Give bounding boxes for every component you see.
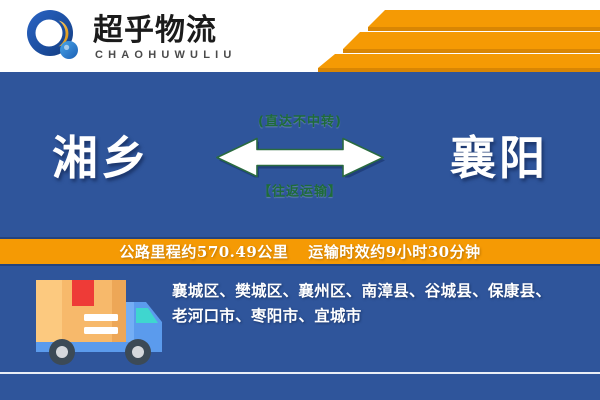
route-info-bar: 公路里程约570.49公里 运输时效约9小时30分钟 xyxy=(0,237,600,266)
footer-band xyxy=(0,374,600,400)
header-bar: 超乎物流 CHAOHUWULIU xyxy=(0,0,600,72)
brand-logo[interactable]: 超乎物流 CHAOHUWULIU xyxy=(24,8,237,66)
destination-city: 襄阳 xyxy=(450,122,548,188)
direct-route-note: (直达不中转) xyxy=(205,110,395,129)
double-headed-arrow-icon xyxy=(205,131,395,177)
round-trip-note: 【往返运输】 xyxy=(205,180,395,199)
coverage-line-1: 襄城区、樊城区、襄州区、南漳县、谷城县、保康县、 xyxy=(172,278,586,303)
coverage-section: 襄城区、樊城区、襄州区、南漳县、谷城县、保康县、 老河口市、枣阳市、宜城市 xyxy=(0,266,600,372)
circle-crescent-logo-icon xyxy=(24,8,84,66)
route-arrow-group: (直达不中转) 【往返运输】 xyxy=(205,110,395,199)
distance-label: 公路里程约570.49公里 xyxy=(119,241,288,262)
origin-city: 湘乡 xyxy=(52,122,150,188)
coverage-line-2: 老河口市、枣阳市、宜城市 xyxy=(172,303,586,328)
delivery-truck-icon xyxy=(28,274,170,366)
orange-speed-stripes-icon xyxy=(310,0,600,72)
logistics-route-banner: 超乎物流 CHAOHUWULIU 湘乡 (直达不中转) xyxy=(0,0,600,400)
brand-name-cn: 超乎物流 xyxy=(93,14,237,48)
coverage-area-list: 襄城区、樊城区、襄州区、南漳县、谷城县、保康县、 老河口市、枣阳市、宜城市 xyxy=(172,278,586,328)
brand-text: 超乎物流 CHAOHUWULIU xyxy=(93,12,237,63)
route-section: 湘乡 (直达不中转) 【往返运输】 襄阳 xyxy=(0,72,600,237)
brand-name-pinyin: CHAOHUWULIU xyxy=(93,48,237,63)
duration-label: 运输时效约9小时30分钟 xyxy=(308,241,480,262)
